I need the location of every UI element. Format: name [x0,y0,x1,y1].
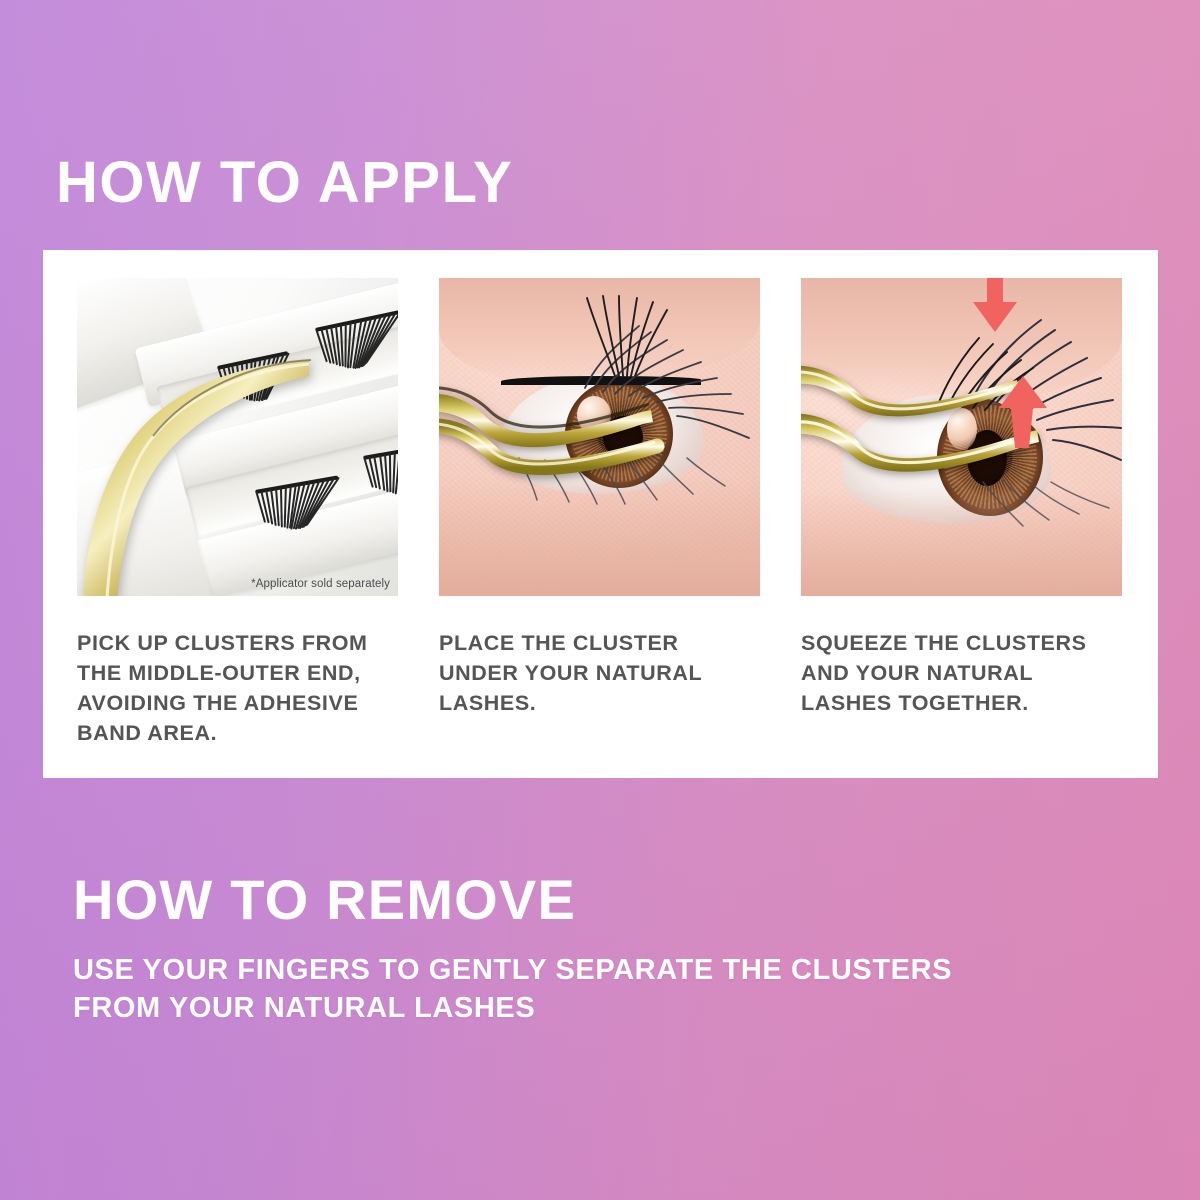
step-2: PLACE THE CLUSTER UNDER YOUR NATURAL LAS… [439,278,762,748]
how-to-remove-body: USE YOUR FINGERS TO GENTLY SEPARATE THE … [73,952,952,1027]
step-2-photo [439,278,760,596]
applicator-tool-icon [77,358,337,596]
arrow-up-icon [997,376,1053,448]
applicator-disclaimer: *Applicator sold separately [251,578,390,590]
lash-cluster-held [569,292,679,382]
steps-card: *Applicator sold separately PICK UP CLUS… [43,250,1158,778]
how-to-remove-title: HOW TO REMOVE [73,872,576,928]
applicator-tweezer [439,374,667,484]
step-1: *Applicator sold separately PICK UP CLUS… [77,278,400,748]
step-1-caption: PICK UP CLUSTERS FROM THE MIDDLE-OUTER E… [77,628,400,748]
how-to-apply-title: HOW TO APPLY [56,154,513,212]
step-3-photo [801,278,1122,596]
step-1-photo: *Applicator sold separately [77,278,398,596]
step-3-caption: SQUEEZE THE CLUSTERS AND YOUR NATURAL LA… [801,628,1124,718]
step-2-caption: PLACE THE CLUSTER UNDER YOUR NATURAL LAS… [439,628,762,718]
arrow-down-icon [969,278,1021,334]
steps-row: *Applicator sold separately PICK UP CLUS… [77,278,1124,748]
natural-lashes-lower [979,478,1119,558]
step-3: SQUEEZE THE CLUSTERS AND YOUR NATURAL LA… [801,278,1124,748]
